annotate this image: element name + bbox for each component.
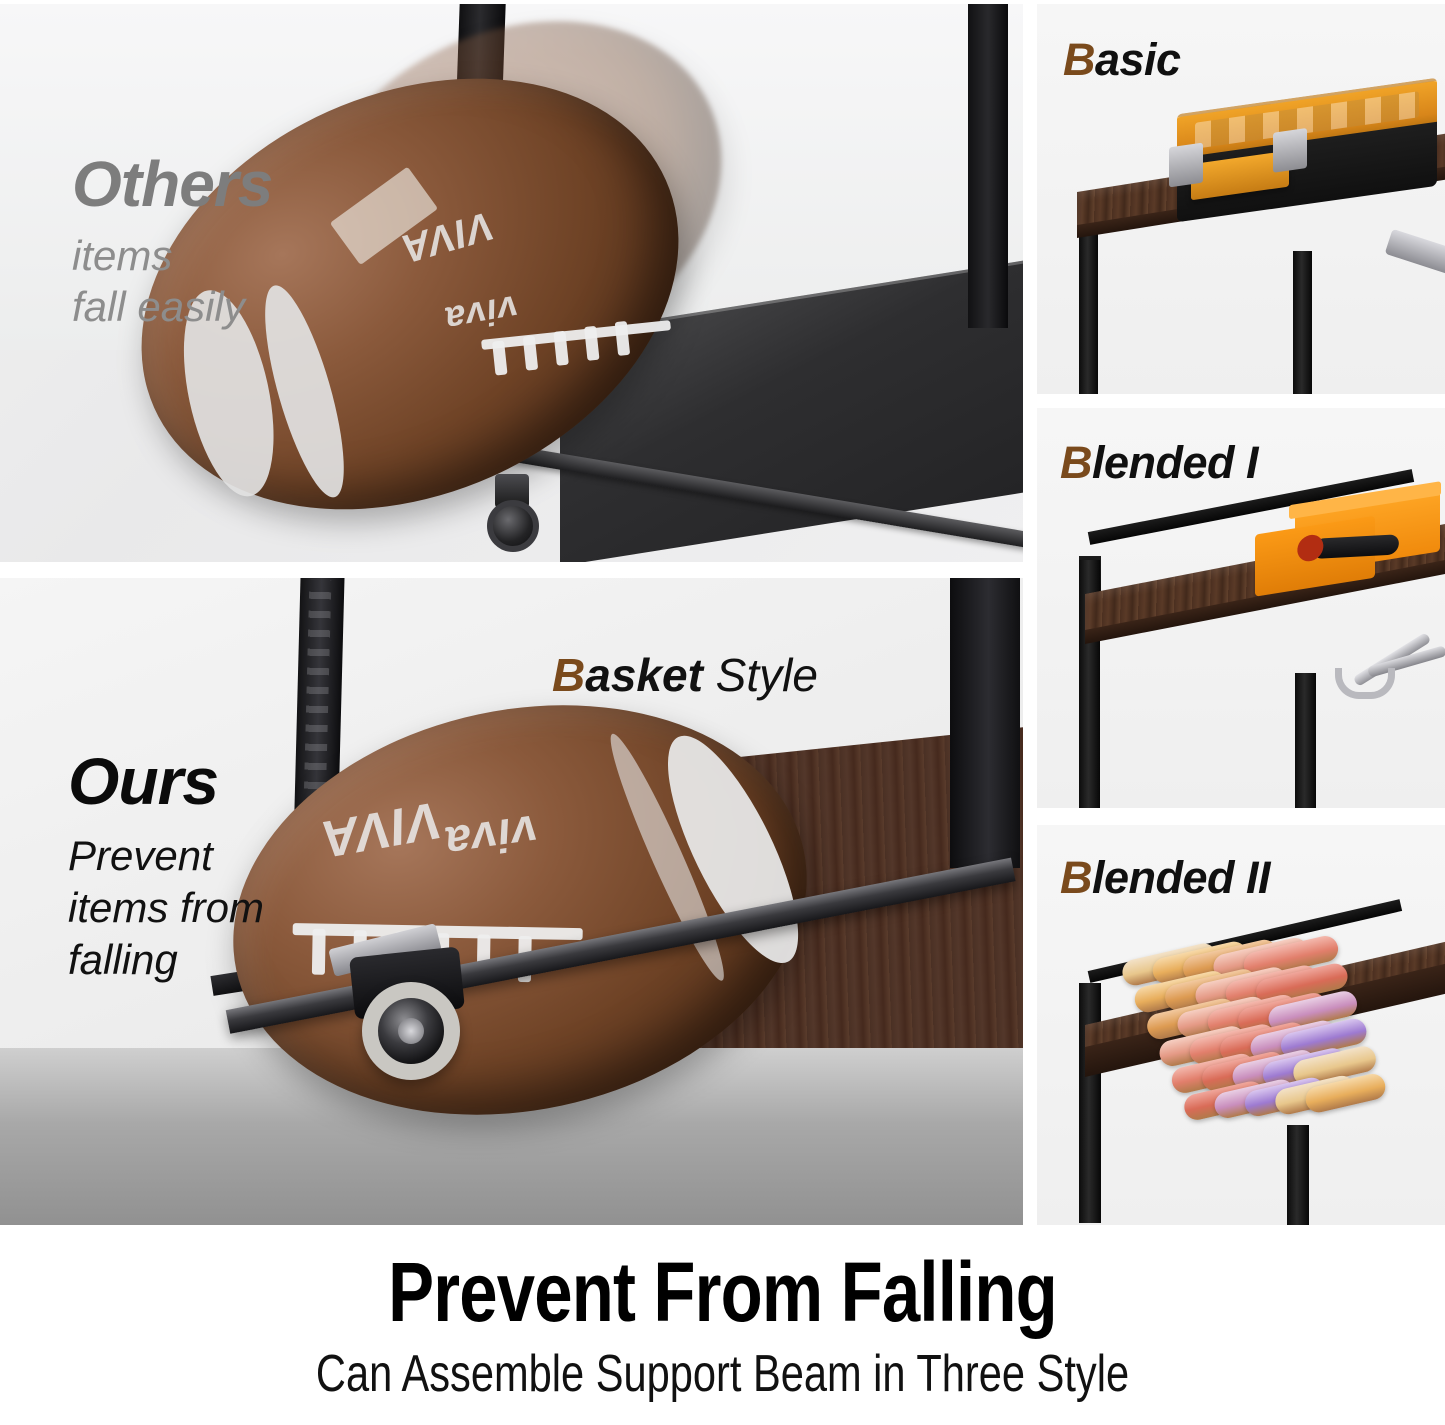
caster-hub [398,1018,424,1044]
blended-two-caption: Blended II [1060,852,1270,904]
blended-one-caption: Blended I [1060,437,1258,489]
basket-style-accent-letter: B [552,649,585,701]
ours-subtext: Prevent items from falling [68,830,264,986]
marketing-board: VIVA viva VIVA viva [0,0,1445,1425]
basic-caption-text: asic [1095,34,1181,85]
ours-text-block: Ours Prevent items from falling [68,748,264,986]
ours-subtext-line1: Prevent [68,830,264,882]
caster-wheel [487,500,539,552]
bench-leg [1287,1125,1309,1225]
footer-subline: Can Assemble Support Beam in Three Style [145,1348,1301,1400]
basic-caption-accent-letter: B [1063,34,1095,85]
basket-style-label: Basket Style [552,648,818,702]
bench-leg [1295,673,1316,808]
ours-subtext-line3: falling [68,934,264,986]
footer-headline: Prevent From Falling [130,1250,1315,1334]
others-heading: Others [72,152,272,216]
others-subtext: items fall easily [72,230,272,332]
football-lace [312,929,326,975]
shelf-upright-right [950,578,1020,868]
footer-text-block: Prevent From Falling Can Assemble Suppor… [0,1250,1445,1425]
clamp-hook [1335,668,1395,699]
blended-one-accent-letter: B [1060,437,1092,488]
others-subtext-line2: fall easily [72,281,272,332]
blended-one-caption-text: lended I [1092,437,1258,488]
ours-heading: Ours [68,748,264,814]
football-brand-mark: VIVA [316,789,446,869]
toolbox-latch [1273,128,1307,173]
others-text-block: Others items fall easily [72,152,272,332]
basket-style-light-text: Style [716,649,818,701]
basket-style-bold-text: asket [585,649,703,701]
bench-leg [1293,251,1312,394]
others-subtext-line1: items [72,230,272,281]
basic-caption: Basic [1063,34,1181,86]
caster-wheel-large [330,936,510,1076]
football-brand-mark-secondary: viva [441,804,541,870]
toolbox-latch [1169,143,1203,188]
blended-two-caption-text: lended II [1092,852,1270,903]
football-brand-mark-secondary: viva [441,287,521,341]
caster-wheel-small [485,474,555,554]
clamp-tool [1349,626,1439,696]
blended-two-accent-letter: B [1060,852,1092,903]
ours-subtext-line2: items from [68,882,264,934]
bench-leg [1079,983,1101,1223]
shelf-upright-right [968,4,1008,328]
